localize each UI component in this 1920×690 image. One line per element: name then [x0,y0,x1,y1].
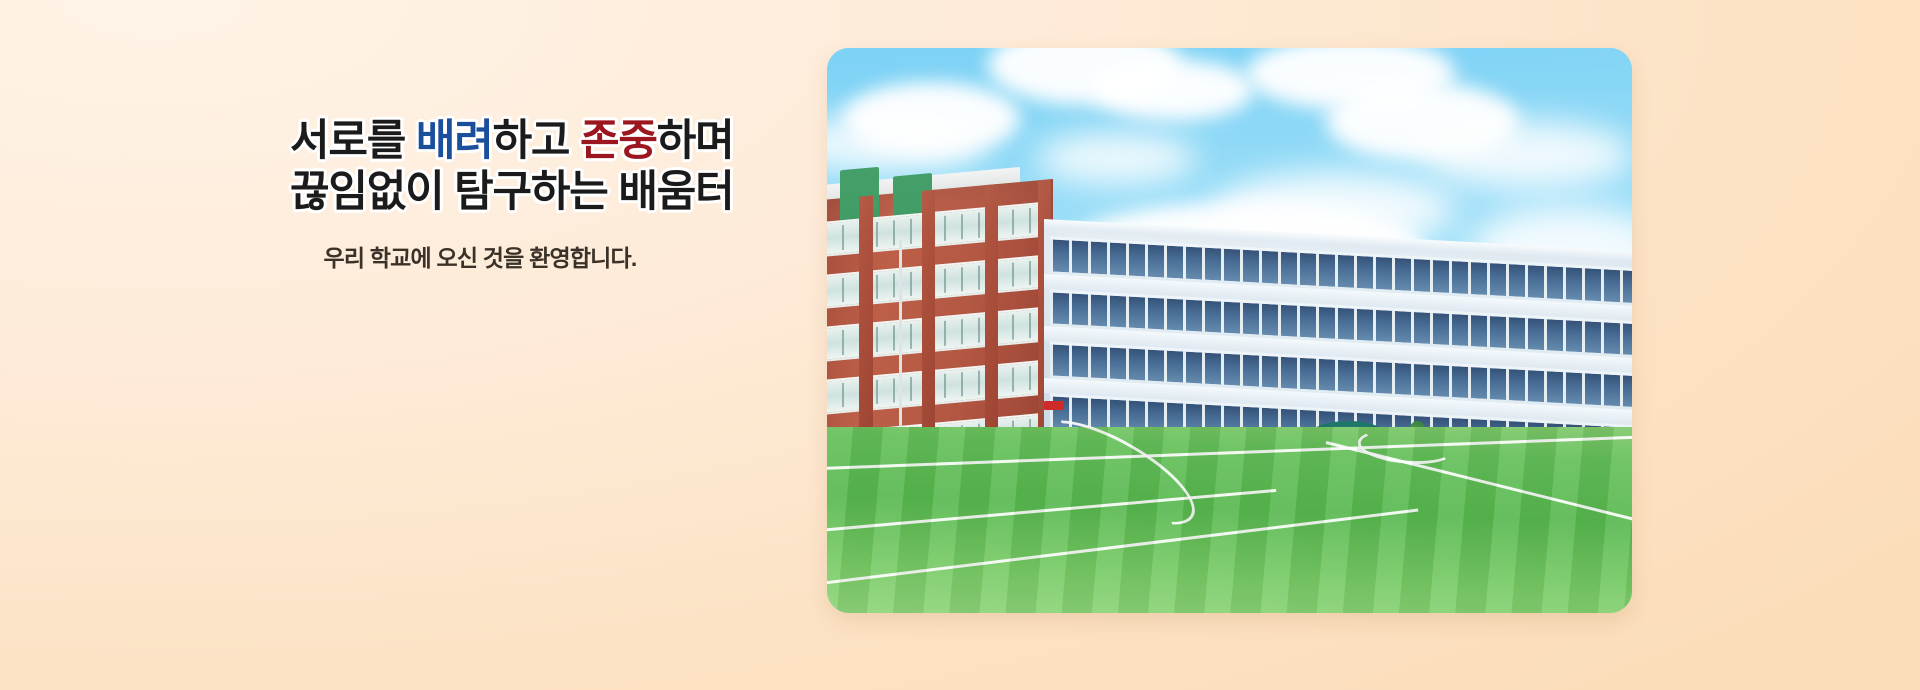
headline-text-part-1: 서로를 [290,117,416,165]
headline-line-2: 끊임없이 탐구하는 배움터 [290,167,670,218]
brick-pier-2 [922,189,935,467]
welcome-subline: 우리 학교에 오신 것을 환영합니다. [290,239,670,273]
cloud-5 [1036,133,1197,184]
field-line-bottom [827,508,1418,589]
headline-text-part-3: 하며 [657,117,734,165]
field-line-sideline [827,433,1632,471]
headline-highlight-respect: 존중 [580,117,657,165]
headline-text-part-2: 하고 [493,117,580,165]
campus-photo-card[interactable] [827,48,1632,613]
cloud-4 [1093,59,1254,121]
campus-photo-image [827,48,1632,613]
headline-highlight-consideration: 배려 [416,117,493,165]
red-wall-sign-1 [1044,401,1063,410]
field-line-right [1326,442,1632,534]
soccer-field-turf [827,427,1632,613]
headline-line-1: 서로를 배려하고 존중하며 [290,116,670,167]
brick-pier-3 [985,184,998,462]
field-line-touchline [827,489,1276,534]
hero-text-block: 서로를 배려하고 존중하며 끊임없이 탐구하는 배움터 우리 학교에 오신 것을… [290,116,670,273]
field-corner-arc [1357,426,1456,468]
cloud-8 [1423,121,1632,189]
